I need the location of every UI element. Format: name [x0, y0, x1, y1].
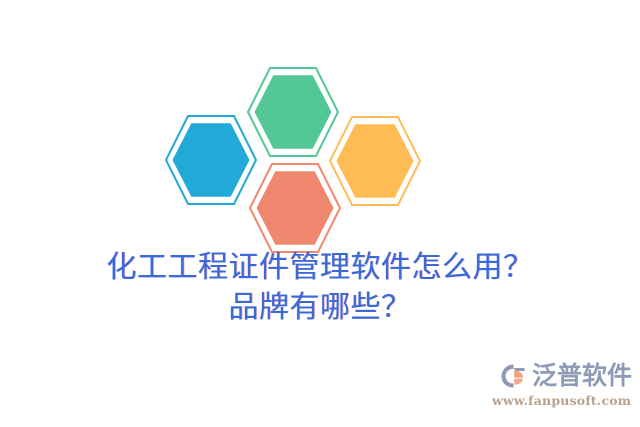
brand-url: www.fanpusoft.com [492, 393, 632, 409]
brand-logo: 泛普软件 www.fanpusoft.com [492, 359, 632, 415]
page-title-line-1: 化工工程证件管理软件怎么用？ [0, 248, 640, 288]
page-title: 化工工程证件管理软件怎么用？ 品牌有哪些？ [0, 248, 640, 328]
brand-wordmark: 泛普软件 [532, 362, 632, 390]
hexagon-cluster [0, 0, 640, 270]
brand-logo-row: 泛普软件 [492, 359, 632, 393]
page-title-line-2: 品牌有哪些？ [0, 288, 640, 328]
banner-canvas: 化工工程证件管理软件怎么用？ 品牌有哪些？ 泛普软件 www.fanpusoft… [0, 0, 640, 427]
fanpu-logo-icon [499, 362, 529, 390]
hexagon-salmon [244, 158, 346, 258]
